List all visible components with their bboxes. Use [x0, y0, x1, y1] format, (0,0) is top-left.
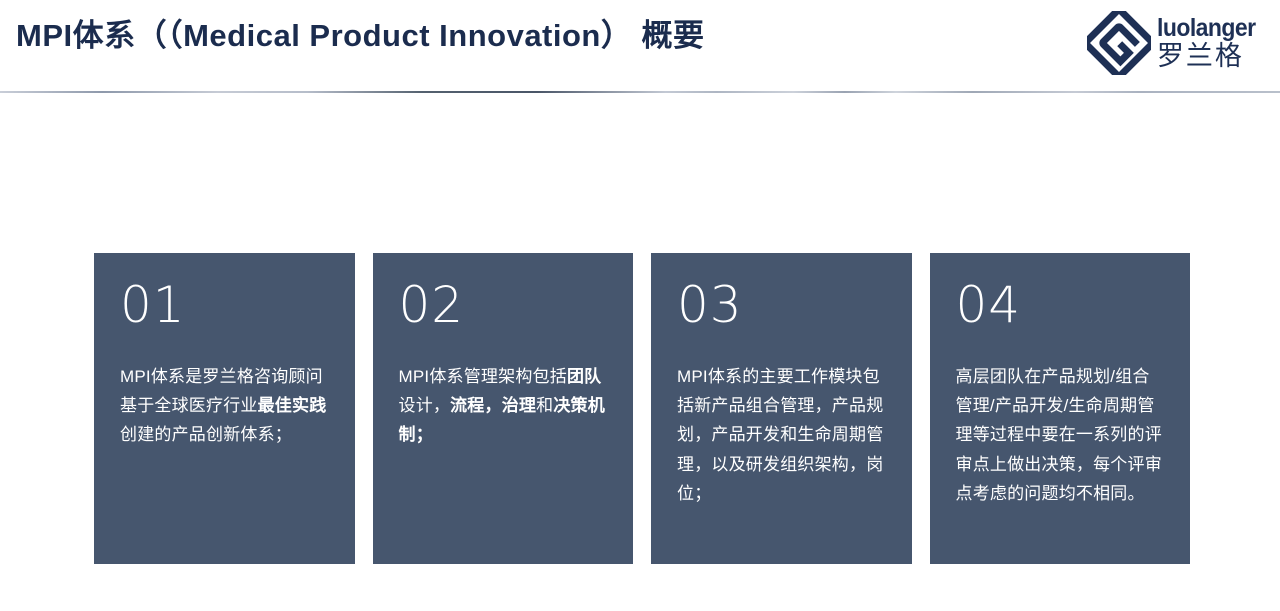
logo-wordmark: luolanger 罗兰格 [1157, 16, 1264, 70]
card-04: 04 高层团队在产品规划/组合管理/产品开发/生命周期管理等过程中要在一系列的评… [930, 253, 1191, 564]
card-body: MPI体系是罗兰格咨询顾问基于全球医疗行业最佳实践创建的产品创新体系； [120, 362, 331, 450]
luolanger-diamond-logo-icon [1087, 11, 1151, 75]
brand-logo: luolanger 罗兰格 [1087, 8, 1264, 78]
card-02: 02 MPI体系管理架构包括团队设计，流程，治理和决策机制； [373, 253, 634, 564]
logo-chinese-text: 罗兰格 [1157, 43, 1264, 70]
card-body: MPI体系管理架构包括团队设计，流程，治理和决策机制； [399, 362, 610, 450]
card-body: 高层团队在产品规划/组合管理/产品开发/生命周期管理等过程中要在一系列的评审点上… [956, 362, 1167, 508]
card-number: 01 [120, 280, 331, 330]
card-number: 04 [956, 280, 1167, 330]
card-03: 03 MPI体系的主要工作模块包括新产品组合管理，产品规划，产品开发和生命周期管… [651, 253, 912, 564]
card-number: 03 [677, 280, 888, 330]
header-divider [0, 91, 1280, 93]
card-row: 01 MPI体系是罗兰格咨询顾问基于全球医疗行业最佳实践创建的产品创新体系； 0… [94, 253, 1190, 564]
card-body: MPI体系的主要工作模块包括新产品组合管理，产品规划，产品开发和生命周期管理，以… [677, 362, 888, 508]
page-title: MPI体系（（Medical Product Innovation） 概要 [16, 17, 704, 54]
slide-header: MPI体系（（Medical Product Innovation） 概要 lu… [0, 0, 1280, 92]
card-01: 01 MPI体系是罗兰格咨询顾问基于全球医疗行业最佳实践创建的产品创新体系； [94, 253, 355, 564]
logo-latin-text: luolanger [1157, 16, 1256, 41]
card-number: 02 [399, 280, 610, 330]
